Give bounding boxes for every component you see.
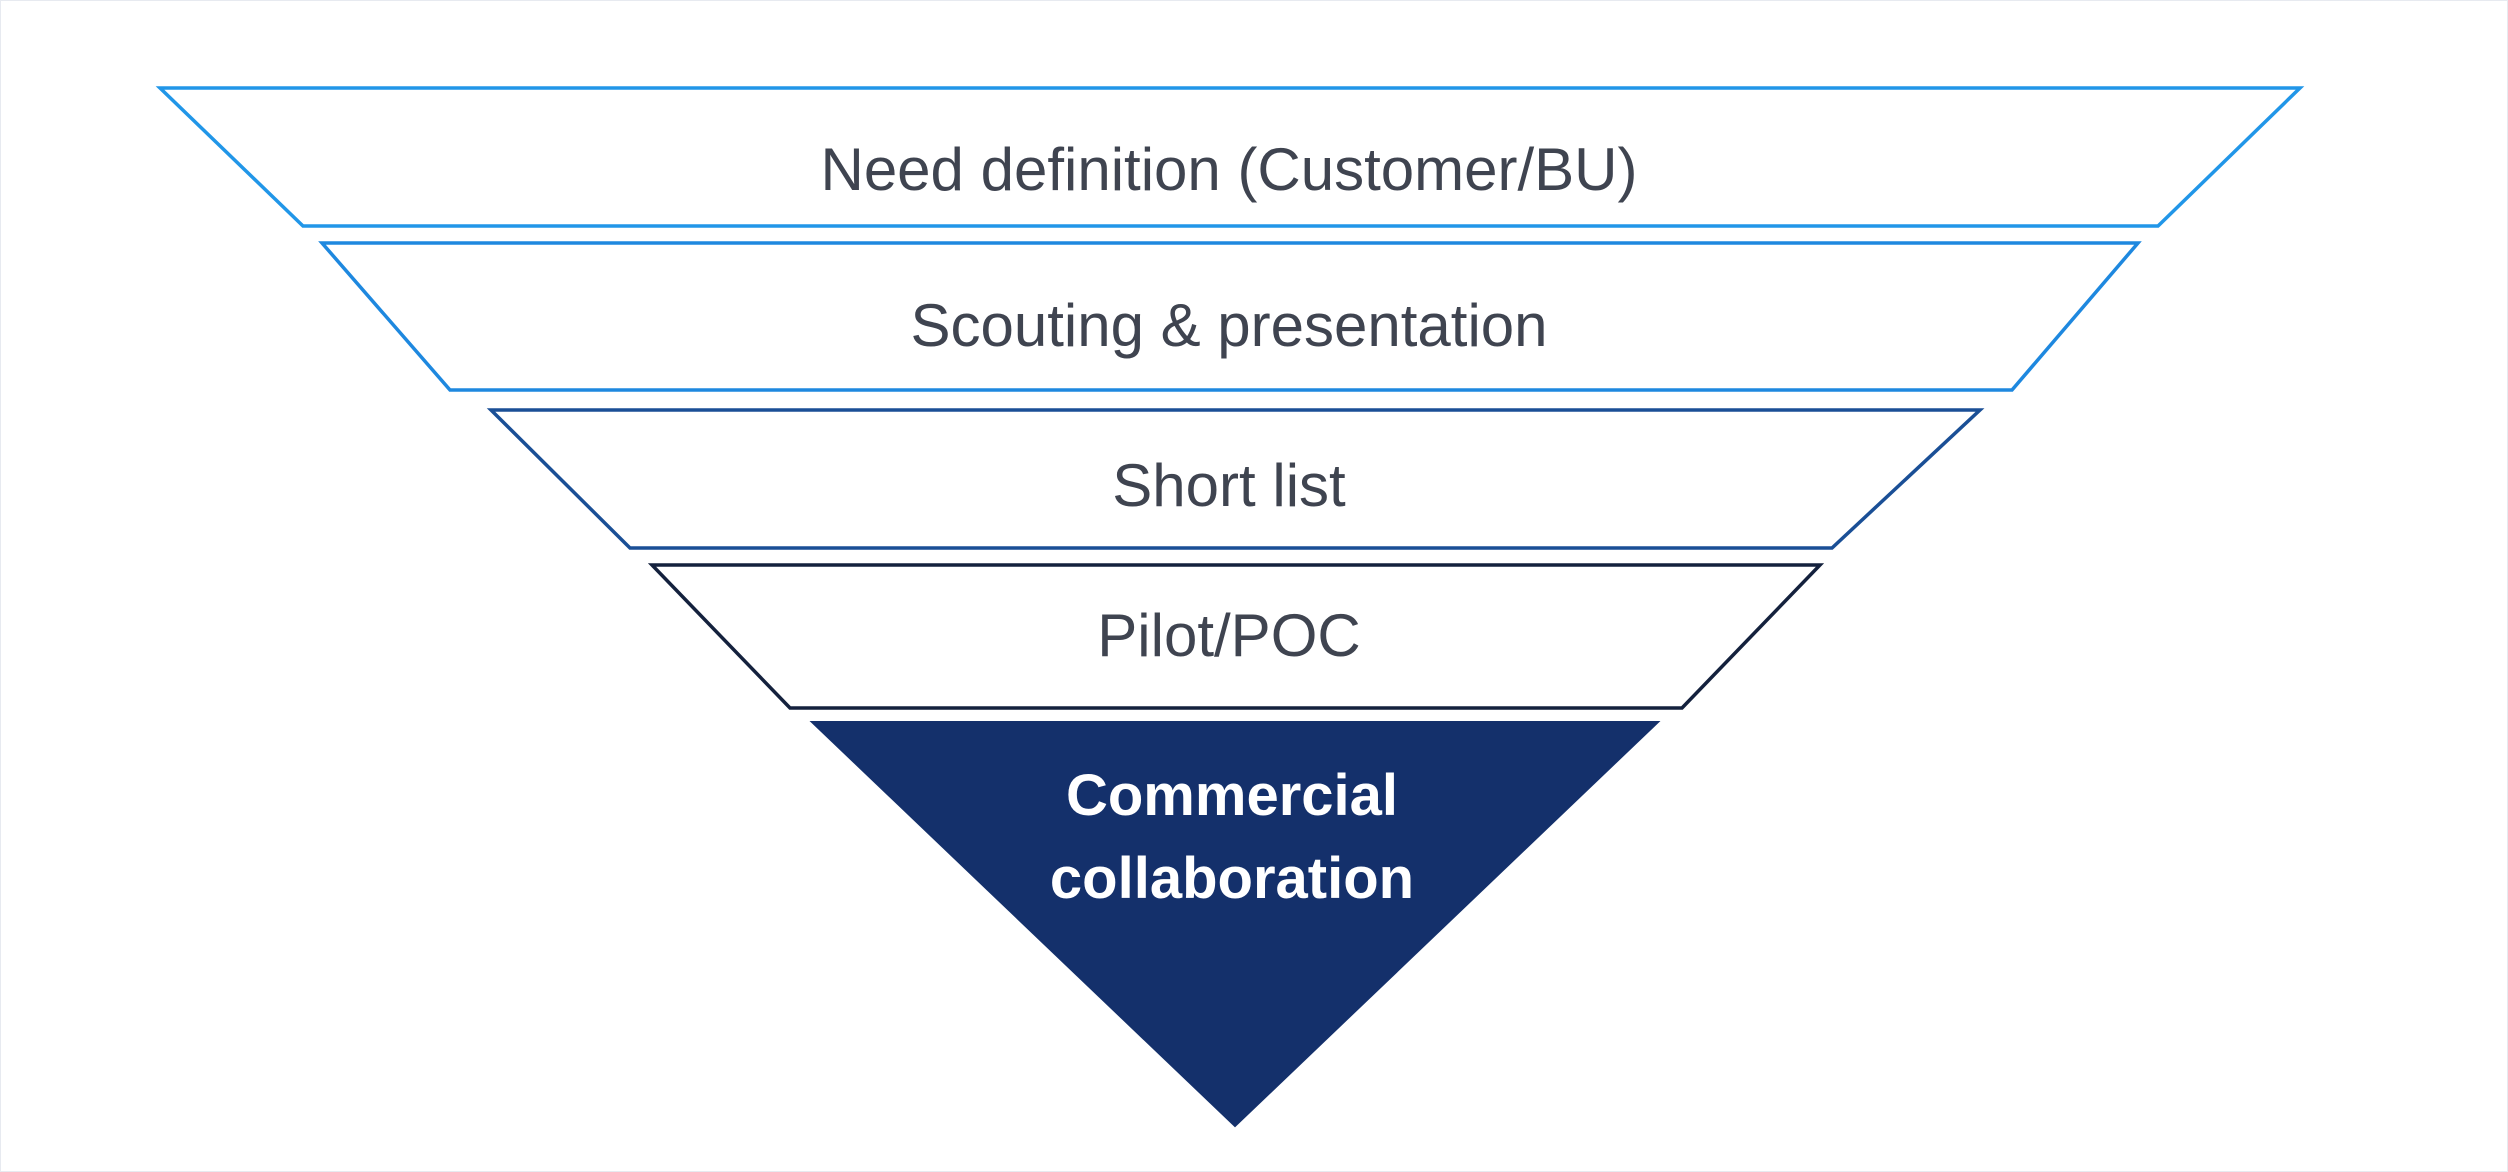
funnel-stage-5[interactable]: Commercial collaboration [812,722,1658,1126]
funnel-stage-2-label: Scouting & presentation [910,292,1547,359]
funnel-stage-4-label: Pilot/POC [1097,602,1360,669]
funnel-stage-3[interactable]: Short list [491,410,1980,548]
funnel-stage-3-label: Short list [1112,452,1346,519]
funnel-stage-4[interactable]: Pilot/POC [652,565,1820,708]
funnel-stage-1-label: Need definition (Customer/BU) [820,136,1637,203]
funnel-stage-1[interactable]: Need definition (Customer/BU) [160,88,2300,226]
funnel-stage-5-label-line-1: Commercial [1066,763,1398,828]
funnel-diagram: Need definition (Customer/BU) Scouting &… [0,0,2508,1172]
funnel-stage-2[interactable]: Scouting & presentation [322,243,2138,390]
funnel-diagram-canvas: Need definition (Customer/BU) Scouting &… [0,0,2508,1172]
funnel-stage-5-label-line-2: collaboration [1050,846,1414,911]
